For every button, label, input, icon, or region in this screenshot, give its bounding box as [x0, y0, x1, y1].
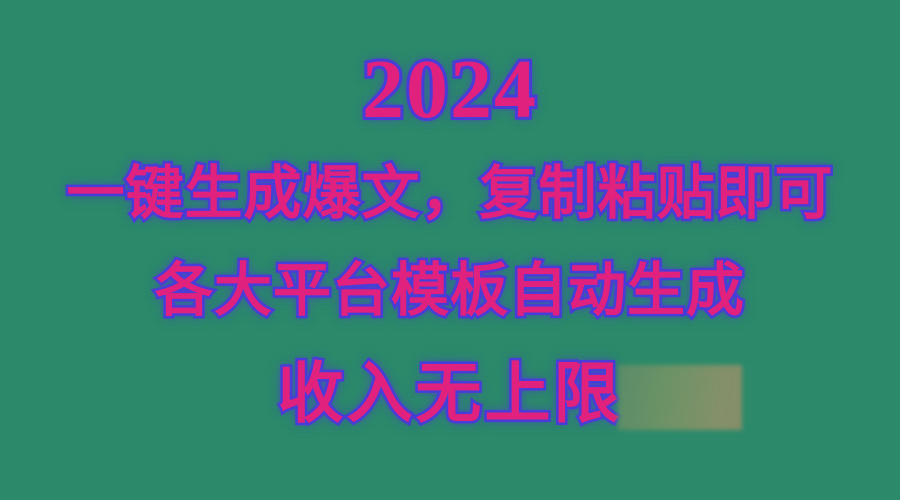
poster-line-feature-oneclick: 一键生成爆文，复制粘贴即可: [0, 165, 900, 223]
blurred-watermark-overlay: [618, 365, 742, 430]
poster-line-feature-templates: 各大平台模板自动生成: [0, 262, 900, 320]
promo-poster: 2024 一键生成爆文，复制粘贴即可 各大平台模板自动生成 收入无上限: [0, 0, 900, 500]
poster-line-feature-income: 收入无上限: [0, 360, 900, 426]
poster-headline-year: 2024: [0, 48, 900, 132]
